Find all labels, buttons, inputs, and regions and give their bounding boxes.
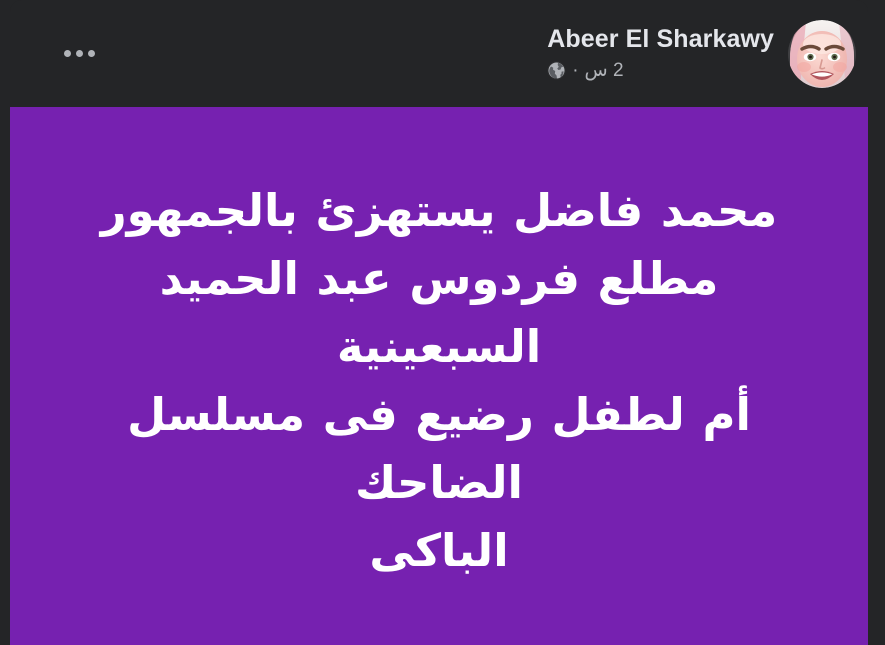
ellipsis-icon-dot-1 bbox=[64, 50, 71, 57]
post-background-canvas[interactable]: محمد فاضل يستهزئ بالجمهور مطلع فردوس عبد… bbox=[10, 107, 868, 645]
globe-icon[interactable] bbox=[547, 61, 566, 80]
post-header: Abeer El Sharkawy 2 س · bbox=[10, 0, 868, 107]
avatar[interactable] bbox=[788, 20, 856, 88]
post-timestamp[interactable]: 2 س bbox=[585, 61, 624, 80]
post-options-menu-button[interactable] bbox=[57, 32, 101, 76]
author-name[interactable]: Abeer El Sharkawy bbox=[547, 27, 774, 52]
author-info: Abeer El Sharkawy 2 س · bbox=[547, 27, 774, 80]
meta-separator: · bbox=[572, 61, 578, 80]
ellipsis-icon-dot-2 bbox=[76, 50, 83, 57]
facebook-post-card: Abeer El Sharkawy 2 س · bbox=[0, 0, 885, 645]
post-frame: Abeer El Sharkawy 2 س · bbox=[10, 0, 868, 645]
post-metadata: 2 س · bbox=[547, 61, 623, 80]
ellipsis-icon-dot-3 bbox=[88, 50, 95, 57]
post-text-content: محمد فاضل يستهزئ بالجمهور مطلع فردوس عبد… bbox=[50, 177, 828, 585]
post-author-section: Abeer El Sharkawy 2 س · bbox=[547, 20, 856, 88]
